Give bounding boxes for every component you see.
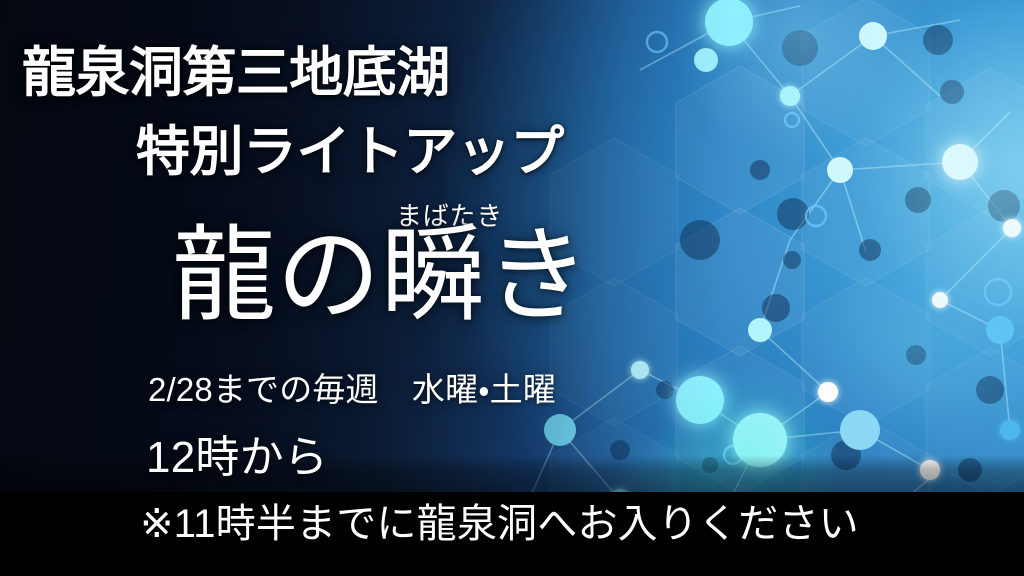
headline-line-2: 特別ライトアップ bbox=[136, 125, 564, 179]
poster-canvas: 龍泉洞第三地底湖 特別ライトアップ まばたき 龍の瞬き 2/28までの毎週 水曜… bbox=[0, 0, 1024, 576]
schedule-line: 2/28までの毎週 水曜・土曜 bbox=[148, 363, 556, 411]
main-title: 龍の瞬き bbox=[172, 224, 590, 328]
poster-text-content: 龍泉洞第三地底湖 特別ライトアップ まばたき 龍の瞬き 2/28までの毎週 水曜… bbox=[0, 0, 1024, 576]
entry-note-line: ※11時半までに龍泉洞へお入りください bbox=[140, 491, 859, 549]
main-title-group: まばたき 龍の瞬き bbox=[160, 196, 630, 346]
headline-line-1: 龍泉洞第三地底湖 bbox=[22, 46, 450, 100]
start-time-line: 12時から bbox=[146, 421, 328, 485]
